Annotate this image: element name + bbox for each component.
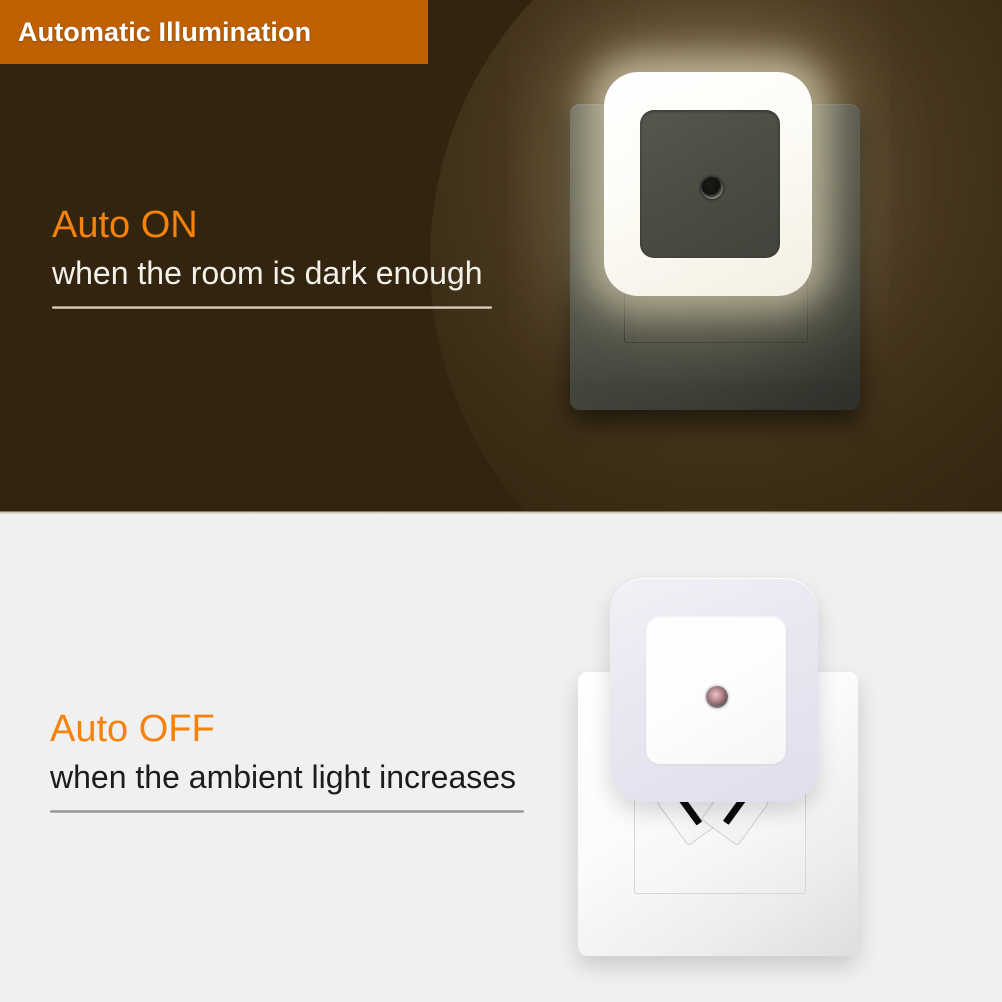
caption-auto-off: Auto OFF when the ambient light increase… bbox=[50, 710, 524, 813]
panel-auto-on: Auto ON when the room is dark enough Aut… bbox=[0, 0, 1002, 512]
light-sensor-icon bbox=[701, 177, 723, 199]
night-light-unlit bbox=[610, 578, 818, 802]
auto-off-heading: Auto OFF bbox=[50, 710, 524, 750]
auto-off-subheading: when the ambient light increases bbox=[50, 759, 524, 796]
banner-title: Automatic Illumination bbox=[0, 17, 311, 48]
caption-auto-on: Auto ON when the room is dark enough bbox=[52, 206, 492, 309]
panel-auto-off: Auto OFF when the ambient light increase… bbox=[0, 514, 1002, 1002]
header-banner: Automatic Illumination bbox=[0, 0, 428, 64]
auto-on-subheading: when the room is dark enough bbox=[52, 255, 492, 292]
product-feature-poster: Auto ON when the room is dark enough Aut… bbox=[0, 0, 1002, 1002]
auto-on-heading: Auto ON bbox=[52, 206, 492, 246]
night-light-lit bbox=[604, 72, 812, 296]
light-sensor-icon bbox=[706, 686, 728, 708]
caption-divider-rule bbox=[52, 306, 492, 309]
caption-divider-rule bbox=[50, 810, 524, 813]
